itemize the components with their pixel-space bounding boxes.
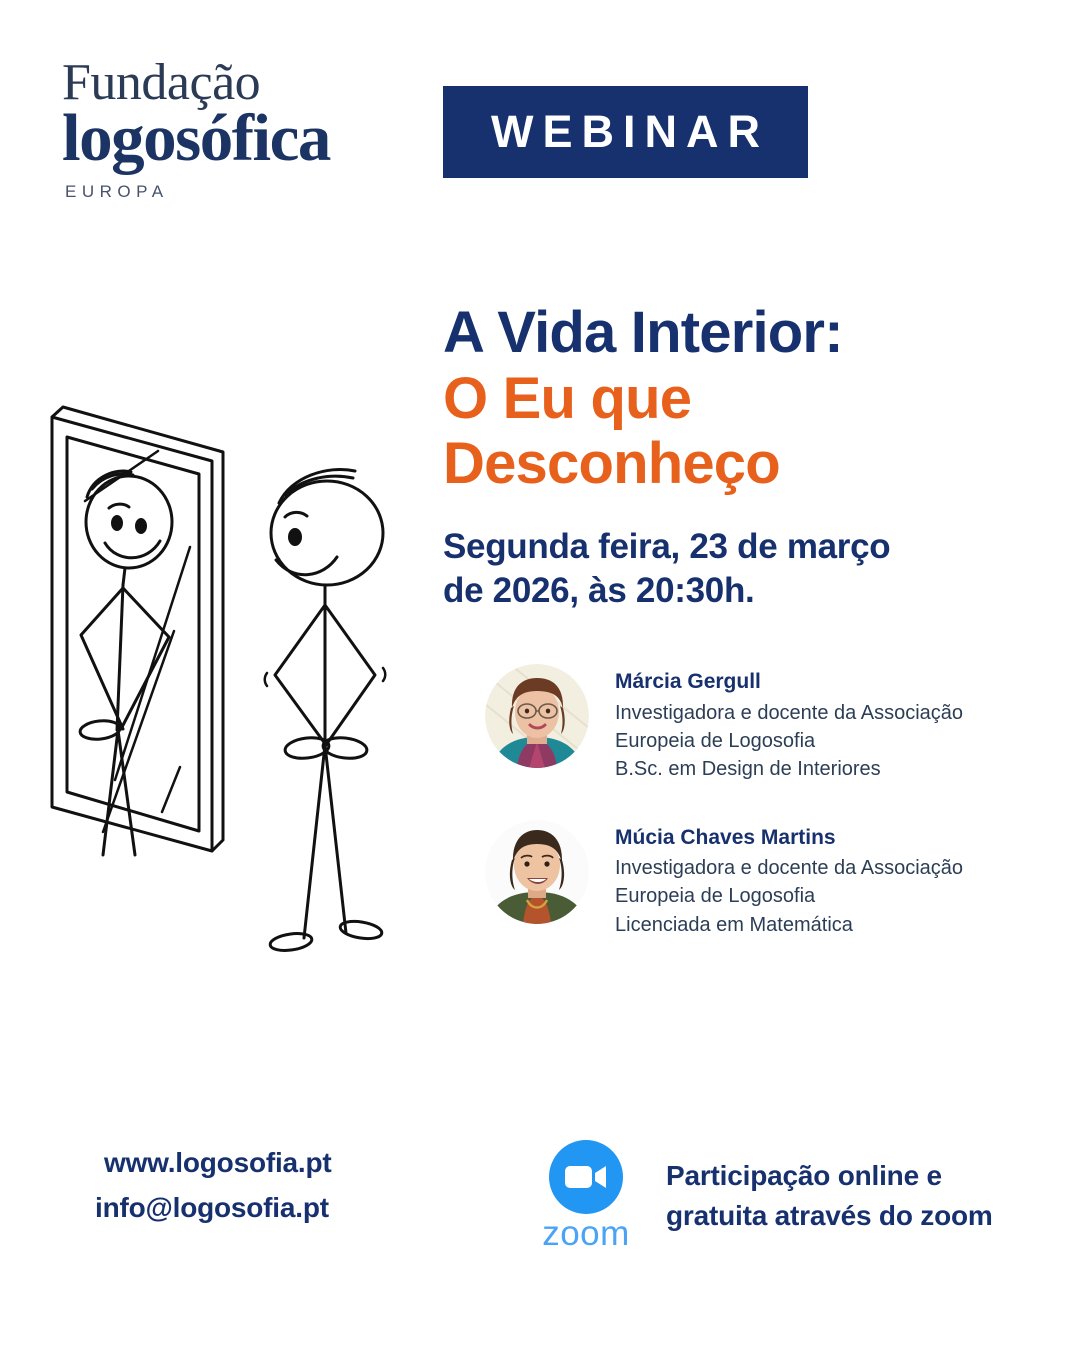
foundation-logo: Fundação logosófica EUROPA xyxy=(62,58,382,202)
logo-europa-text: EUROPA xyxy=(65,182,382,202)
zoom-caption-line-1: Participação online e xyxy=(666,1156,993,1196)
speaker-bio-line: Investigadora e docente da Associação xyxy=(615,699,963,727)
email-link[interactable]: info@logosofia.pt xyxy=(95,1185,425,1230)
speaker-item: Márcia Gergull Investigadora e docente d… xyxy=(485,662,1023,784)
website-link[interactable]: www.logosofia.pt xyxy=(95,1140,425,1185)
title-line-3: Desconheço xyxy=(443,431,1023,497)
event-datetime: Segunda feira, 23 de março de 2026, às 2… xyxy=(443,525,1023,615)
stick-figure-mirror-illustration xyxy=(45,385,425,985)
speaker-list: Márcia Gergull Investigadora e docente d… xyxy=(485,662,1023,939)
speaker-bio-line: B.Sc. em Design de Interiores xyxy=(615,755,963,783)
speaker-name: Márcia Gergull xyxy=(615,668,963,696)
page-title: A Vida Interior: O Eu que Desconheço xyxy=(443,300,1023,497)
speaker-details: Márcia Gergull Investigadora e docente d… xyxy=(615,662,963,784)
speaker-bio-line: Investigadora e docente da Associação xyxy=(615,854,963,882)
zoom-caption: Participação online e gratuita através d… xyxy=(666,1156,993,1236)
zoom-participation-block: zoom Participação online e gratuita atra… xyxy=(528,1140,993,1251)
avatar xyxy=(485,820,589,924)
video-camera-icon xyxy=(549,1140,623,1214)
zoom-logo: zoom xyxy=(528,1140,644,1251)
speaker-bio-line: Licenciada em Matemática xyxy=(615,911,963,939)
title-line-1: A Vida Interior: xyxy=(443,300,1023,366)
zoom-wordmark: zoom xyxy=(542,1216,630,1251)
avatar xyxy=(485,664,589,768)
speaker-bio-line: Europeia de Logosofia xyxy=(615,882,963,910)
event-date-line-2: de 2026, às 20:30h. xyxy=(443,569,1023,614)
speaker-details: Múcia Chaves Martins Investigadora e doc… xyxy=(615,818,963,940)
contact-block: www.logosofia.pt info@logosofia.pt xyxy=(95,1140,425,1231)
speaker-name: Múcia Chaves Martins xyxy=(615,824,963,852)
poster-main-content: A Vida Interior: O Eu que Desconheço Seg… xyxy=(443,300,1023,939)
logo-logosofica-text: logosófica xyxy=(62,105,382,172)
webinar-badge-label: WEBINAR xyxy=(482,106,769,158)
webinar-poster: Fundação logosófica EUROPA WEBINAR xyxy=(0,0,1080,1350)
event-date-line-1: Segunda feira, 23 de março xyxy=(443,525,1023,570)
speaker-item: Múcia Chaves Martins Investigadora e doc… xyxy=(485,818,1023,940)
webinar-badge: WEBINAR xyxy=(443,86,808,178)
title-line-2: O Eu que xyxy=(443,366,1023,432)
speaker-bio-line: Europeia de Logosofia xyxy=(615,727,963,755)
zoom-caption-line-2: gratuita através do zoom xyxy=(666,1196,993,1236)
